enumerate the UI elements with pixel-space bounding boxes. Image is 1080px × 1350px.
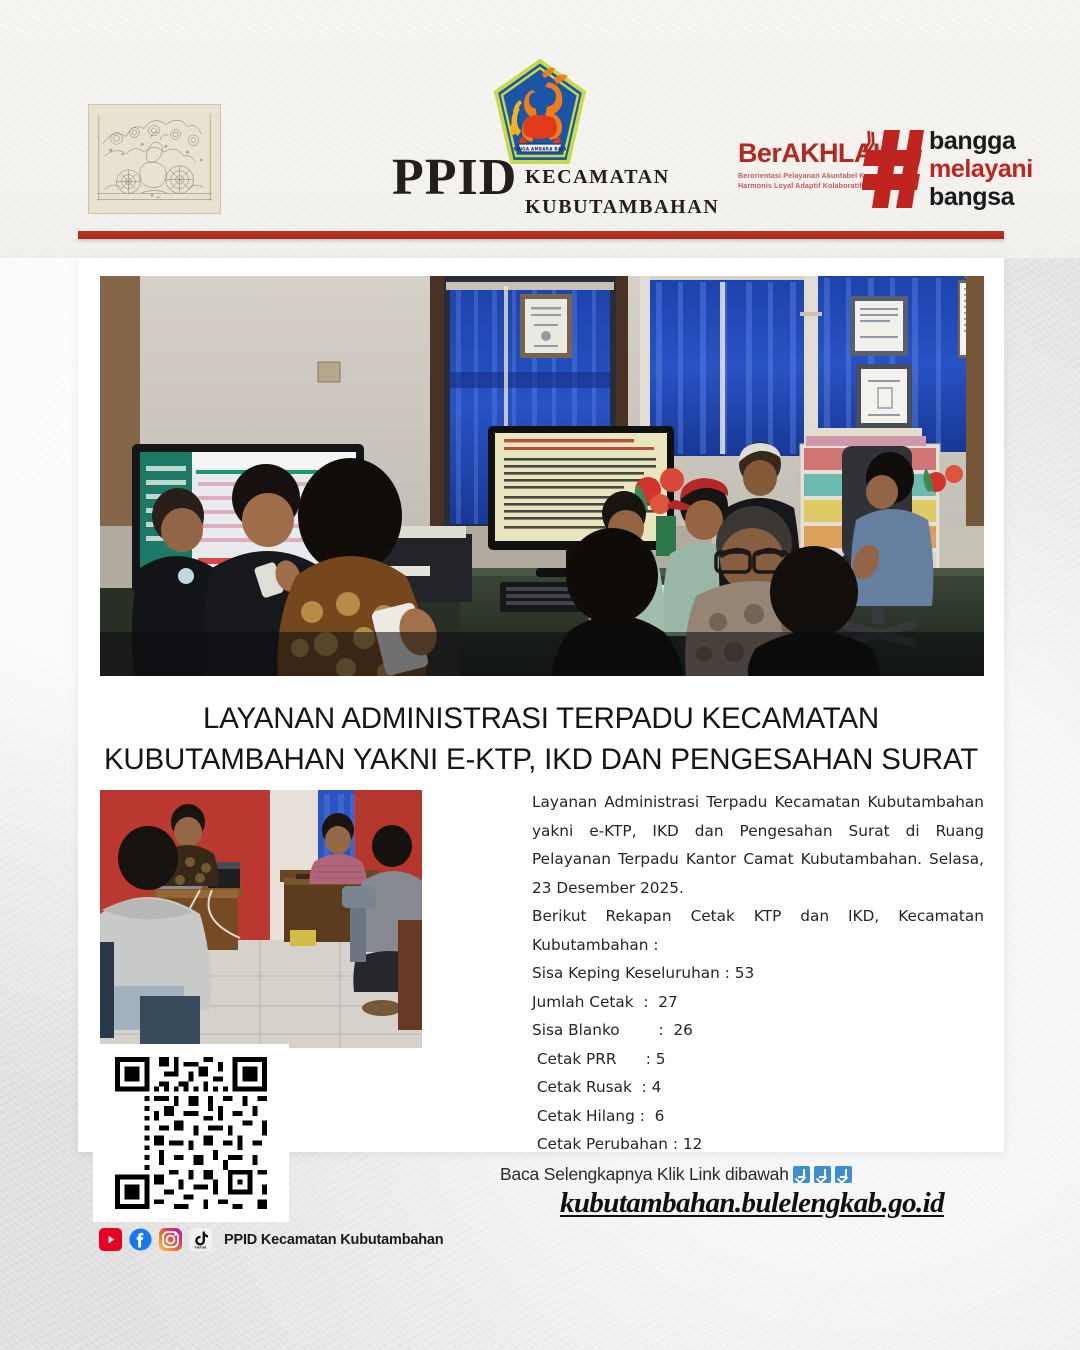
balinese-relief-carving-icon xyxy=(88,104,221,214)
stat-line: Sisa Keping Keseluruhan : 53 xyxy=(532,959,984,988)
facebook-icon[interactable] xyxy=(129,1228,152,1251)
down-arrow-icon xyxy=(793,1166,810,1183)
ppid-subtitle-line1: KECAMATAN xyxy=(525,162,719,192)
bangga-melayani-bangsa-logo: bangga melayani bangsa xyxy=(862,126,1033,212)
stat-line: Cetak Rusak : 4 xyxy=(532,1073,984,1102)
header-divider xyxy=(78,231,1004,239)
stat-line: Cetak PRR : 5 xyxy=(532,1045,984,1074)
body-paragraph-1: Layanan Administrasi Terpadu Kecamatan K… xyxy=(532,788,984,902)
youtube-icon[interactable] xyxy=(99,1228,122,1251)
footer-cta: Baca Selengkapnya Klik Link dibawah kubu… xyxy=(440,1164,1040,1220)
berakhlak-tagline-line1: Berorientasi Pelayanan Akuntabel Kompete… xyxy=(738,171,866,181)
instagram-icon[interactable] xyxy=(159,1228,182,1251)
ppid-subtitle-line2: KUBUTAMBAHAN xyxy=(525,192,719,222)
berakhlak-tagline-line2: Harmonis Loyal Adaptif Kolaboratif xyxy=(738,181,866,191)
cta-text: Baca Selengkapnya Klik Link dibawah xyxy=(500,1164,789,1185)
down-arrow-icon xyxy=(835,1166,852,1183)
bangga-word1: bangga xyxy=(929,127,1033,155)
headline-line-1: LAYANAN ADMINISTRASI TERPADU KECAMATAN xyxy=(88,698,994,739)
headline-line-2: KUBUTAMBAHAN YAKNI E-KTP, IKD DAN PENGES… xyxy=(88,739,994,780)
stat-line: Cetak Hilang : 6 xyxy=(532,1102,984,1131)
stat-line: Sisa Blanko : 26 xyxy=(532,1016,984,1045)
stat-line: Cetak Perubahan : 12 xyxy=(532,1130,984,1159)
bangga-words: bangga melayani bangsa xyxy=(929,127,1033,211)
bangga-word3: bangsa xyxy=(929,183,1033,211)
berakhlak-logo: BerAKHLAK⟫ Berorientasi Pelayanan Akunta… xyxy=(738,140,866,190)
qr-code-icon[interactable] xyxy=(93,1044,289,1222)
tiktok-icon[interactable]: TIKTOK xyxy=(189,1228,212,1251)
social-links: TIKTOK PPID Kecamatan Kubutambahan xyxy=(99,1228,443,1251)
svg-text:SINGA AMBARA RAJA: SINGA AMBARA RAJA xyxy=(513,146,567,151)
bangga-word2: melayani xyxy=(929,155,1033,183)
website-url-link[interactable]: kubutambahan.bulelengkab.go.id xyxy=(440,1187,1040,1220)
berakhlak-prefix: Ber xyxy=(738,138,781,168)
hashtag-icon xyxy=(862,126,924,212)
secondary-photo xyxy=(100,790,422,1048)
social-handle: PPID Kecamatan Kubutambahan xyxy=(224,1232,443,1248)
svg-text:TIKTOK: TIKTOK xyxy=(195,1246,208,1250)
content-card: LAYANAN ADMINISTRASI TERPADU KECAMATAN K… xyxy=(78,258,1004,1152)
stat-line: Jumlah Cetak : 27 xyxy=(532,988,984,1017)
hero-photo xyxy=(100,276,984,676)
article-body: Layanan Administrasi Terpadu Kecamatan K… xyxy=(532,788,984,1159)
cta-line: Baca Selengkapnya Klik Link dibawah xyxy=(440,1164,1040,1185)
ppid-subtitle: KECAMATAN KUBUTAMBAHAN xyxy=(525,162,719,222)
body-paragraph-2: Berikut Rekapan Cetak KTP dan IKD, Kecam… xyxy=(532,902,984,959)
page-title: LAYANAN ADMINISTRASI TERPADU KECAMATAN K… xyxy=(88,698,994,780)
ppid-wordmark: PPID xyxy=(392,152,517,204)
berakhlak-wordmark: BerAKHLAK⟫ xyxy=(738,140,866,167)
down-arrow-icon xyxy=(814,1166,831,1183)
berakhlak-tagline: Berorientasi Pelayanan Akuntabel Kompete… xyxy=(738,171,866,190)
header-panel: SINGA AMBARA RAJA PPID KECAMATAN KUBUTAM… xyxy=(0,0,1080,258)
